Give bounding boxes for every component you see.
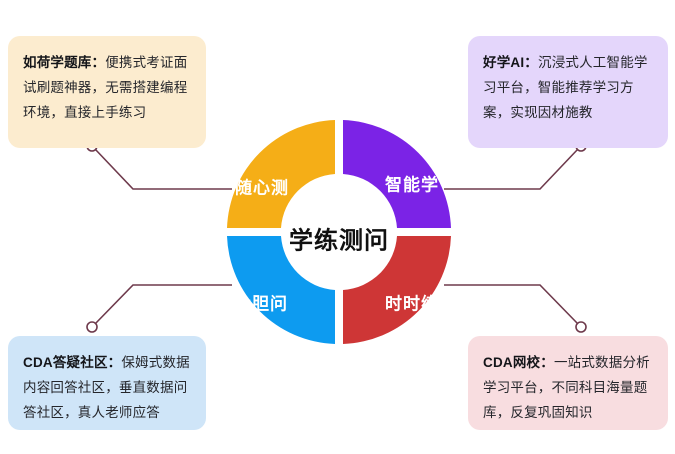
segment-label-suixince: 随心测 <box>235 174 289 199</box>
segment-label-dadanwen: 大胆问 <box>234 290 288 315</box>
callout-top-right[interactable]: 好学AI：沉浸式人工智能学习平台，智能推荐学习方案，实现因材施教 <box>468 36 668 148</box>
segment-label-zhinengxue: 智能学 <box>385 171 439 196</box>
callout-bottom-left[interactable]: CDA答疑社区：保姆式数据内容回答社区，垂直数据问答社区，真人老师应答 <box>8 336 206 430</box>
infographic-canvas: 随心测 智能学 大胆问 时时练 学练测问 如荷学题库：便携式考证面试刷题神器，无… <box>0 0 675 454</box>
callout-top-left[interactable]: 如荷学题库：便携式考证面试刷题神器，无需搭建编程环境，直接上手练习 <box>8 36 206 148</box>
callout-top-right-lead: 好学AI： <box>483 55 538 70</box>
callout-bottom-left-lead: CDA答疑社区： <box>23 355 121 370</box>
center-label: 学练测问 <box>289 221 389 256</box>
callout-top-left-lead: 如荷学题库： <box>23 55 105 70</box>
callout-bottom-right[interactable]: CDA网校：一站式数据分析学习平台，不同科目海量题库，反复巩固知识 <box>468 336 668 430</box>
callout-bottom-right-lead: CDA网校： <box>483 355 554 370</box>
segment-label-shishilian: 时时练 <box>385 290 439 315</box>
